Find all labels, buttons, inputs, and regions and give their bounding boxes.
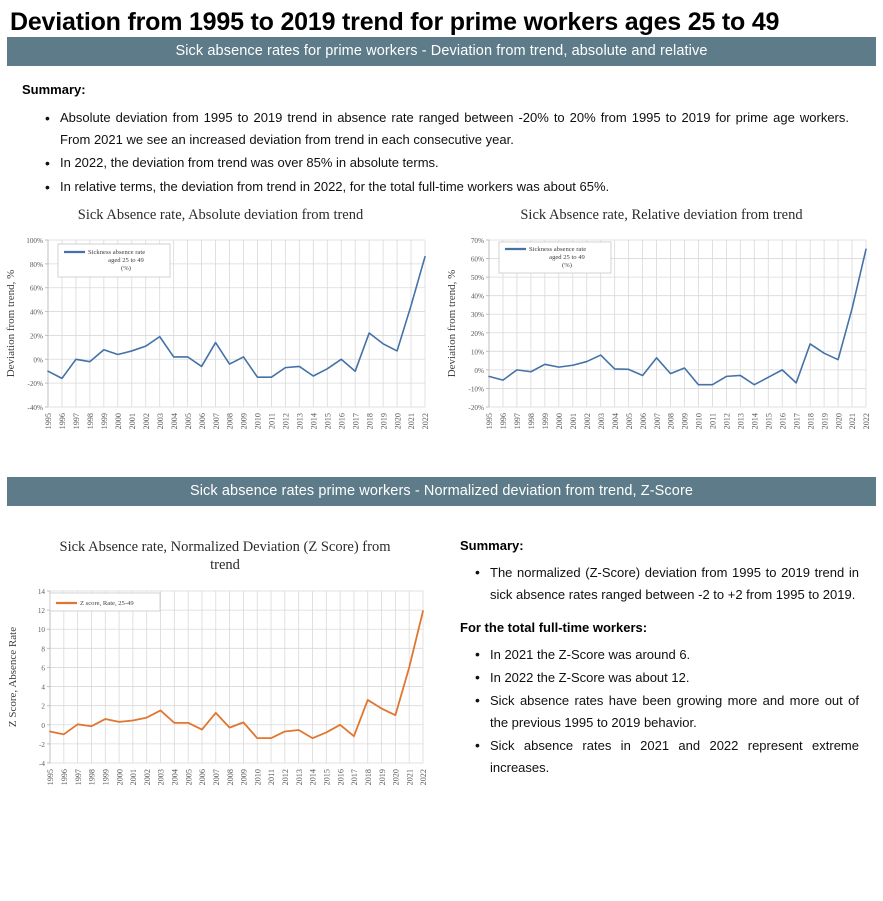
svg-text:2009: 2009 [240,413,249,429]
svg-text:2010: 2010 [253,769,262,785]
svg-text:2008: 2008 [226,769,235,785]
svg-text:30%: 30% [471,312,484,320]
svg-text:2007: 2007 [212,769,221,785]
svg-text:2007: 2007 [212,413,221,429]
svg-text:1999: 1999 [101,769,110,785]
svg-text:40%: 40% [30,309,43,317]
svg-text:Z Score, Absence Rate: Z Score, Absence Rate [7,626,19,726]
svg-text:2000: 2000 [115,769,124,785]
list-item: The normalized (Z-Score) deviation from … [490,562,859,606]
svg-text:2006: 2006 [198,413,207,429]
svg-text:40%: 40% [471,293,484,301]
svg-text:4: 4 [41,683,45,691]
list-item: Sick absence rates in 2021 and 2022 repr… [490,735,859,779]
chart-zscore: 14121086420-2-41995199619971998199920002… [0,581,450,821]
bottom-summary-list-first: The normalized (Z-Score) deviation from … [460,562,859,606]
svg-text:0: 0 [41,721,45,729]
svg-text:2019: 2019 [378,769,387,785]
svg-text:1997: 1997 [72,413,81,429]
page-title: Deviation from 1995 to 2019 trend for pr… [0,0,883,37]
chart-absolute: 100%80%60%40%20%0%-20%-40%19951996199719… [0,230,441,465]
chart-zscore-svg: 14121086420-2-41995199619971998199920002… [0,581,441,821]
svg-text:2018: 2018 [806,413,815,429]
top-summary-block: Summary: Absolute deviation from 1995 to… [0,66,883,198]
svg-text:2015: 2015 [322,769,331,785]
svg-text:20%: 20% [471,330,484,338]
svg-text:1998: 1998 [86,413,95,429]
list-item: Sick absence rates have been growing mor… [490,690,859,734]
svg-text:2021: 2021 [848,413,857,429]
chart-title-zscore: Sick Absence rate, Normalized Deviation … [0,538,450,574]
chart-relative: 70%60%50%40%30%20%10%0%-10%-20%199519961… [441,230,882,465]
svg-text:1996: 1996 [499,413,508,429]
svg-text:2001: 2001 [129,769,138,785]
svg-text:2014: 2014 [750,413,759,429]
svg-text:-20%: -20% [27,380,43,388]
svg-text:50%: 50% [471,274,484,282]
svg-text:2020: 2020 [393,413,402,429]
svg-text:2021: 2021 [407,413,416,429]
svg-text:(%): (%) [121,265,131,272]
bottom-summary-block: Summary: The normalized (Z-Score) deviat… [450,520,883,820]
svg-text:2000: 2000 [555,413,564,429]
svg-text:-40%: -40% [27,404,43,412]
svg-text:80%: 80% [30,261,43,269]
svg-text:2007: 2007 [653,413,662,429]
svg-text:2002: 2002 [143,769,152,785]
list-item: In 2021 the Z-Score was around 6. [490,644,859,666]
svg-text:2016: 2016 [778,413,787,429]
svg-text:0%: 0% [474,367,484,375]
svg-text:(%): (%) [562,262,572,269]
svg-text:2012: 2012 [282,413,291,429]
svg-text:2013: 2013 [296,413,305,429]
list-item: In relative terms, the deviation from tr… [60,176,863,198]
svg-text:aged 25 to 49: aged 25 to 49 [549,254,585,261]
svg-text:-20%: -20% [468,404,484,412]
top-summary-list: Absolute deviation from 1995 to 2019 tre… [22,107,863,198]
section-header-absolute-relative: Sick absence rates for prime workers - D… [7,37,876,66]
svg-text:70%: 70% [471,237,484,245]
svg-text:2019: 2019 [820,413,829,429]
svg-text:2: 2 [41,702,45,710]
svg-text:1999: 1999 [541,413,550,429]
chart-title-absolute: Sick Absence rate, Absolute deviation fr… [0,206,441,224]
chart-cell-zscore: Sick Absence rate, Normalized Deviation … [0,520,450,820]
svg-text:2004: 2004 [171,769,180,785]
svg-text:6: 6 [41,664,45,672]
svg-text:2005: 2005 [625,413,634,429]
chart-row-top: Sick Absence rate, Absolute deviation fr… [0,206,883,465]
svg-text:2003: 2003 [157,769,166,785]
svg-text:2008: 2008 [667,413,676,429]
svg-text:-4: -4 [39,760,45,768]
svg-text:1998: 1998 [88,769,97,785]
svg-text:2018: 2018 [364,769,373,785]
svg-text:-2: -2 [39,740,45,748]
svg-text:1995: 1995 [485,413,494,429]
chart-absolute-svg: 100%80%60%40%20%0%-20%-40%19951996199719… [0,230,441,465]
svg-text:1996: 1996 [58,413,67,429]
chart-title-relative: Sick Absence rate, Relative deviation fr… [441,206,882,224]
svg-text:2009: 2009 [240,769,249,785]
svg-text:2004: 2004 [170,413,179,429]
svg-text:2001: 2001 [128,413,137,429]
svg-text:14: 14 [38,588,46,596]
svg-text:8: 8 [41,645,45,653]
chart-cell-absolute: Sick Absence rate, Absolute deviation fr… [0,206,441,465]
svg-text:1995: 1995 [46,769,55,785]
svg-text:2019: 2019 [379,413,388,429]
svg-text:1997: 1997 [513,413,522,429]
svg-text:1998: 1998 [527,413,536,429]
summary-heading-fulltime: For the total full-time workers: [460,620,859,635]
svg-text:2022: 2022 [862,413,871,429]
list-item: Absolute deviation from 1995 to 2019 tre… [60,107,863,152]
svg-text:100%: 100% [26,237,43,245]
svg-text:2005: 2005 [184,769,193,785]
svg-text:Sickness absence rate: Sickness absence rate [529,246,586,253]
svg-text:2003: 2003 [156,413,165,429]
svg-text:2011: 2011 [268,413,277,429]
svg-text:60%: 60% [471,256,484,264]
svg-text:10%: 10% [471,349,484,357]
svg-text:0%: 0% [33,357,43,365]
bottom-row: Sick Absence rate, Normalized Deviation … [0,520,883,820]
svg-text:Z score, Rate, 25-49: Z score, Rate, 25-49 [80,600,134,607]
svg-text:1996: 1996 [60,769,69,785]
svg-text:2013: 2013 [737,413,746,429]
svg-text:2013: 2013 [295,769,304,785]
svg-text:2012: 2012 [281,769,290,785]
svg-text:2006: 2006 [639,413,648,429]
svg-text:2010: 2010 [695,413,704,429]
svg-text:Deviation from trend, %: Deviation from trend, % [446,270,458,378]
svg-text:2009: 2009 [681,413,690,429]
svg-text:2016: 2016 [337,413,346,429]
svg-text:2003: 2003 [597,413,606,429]
svg-text:12: 12 [38,607,46,615]
svg-text:aged 25 to 49: aged 25 to 49 [108,257,144,264]
chart-cell-relative: Sick Absence rate, Relative deviation fr… [441,206,882,465]
svg-text:2018: 2018 [365,413,374,429]
svg-text:2004: 2004 [611,413,620,429]
svg-text:2014: 2014 [309,769,318,785]
section-header-zscore: Sick absence rates prime workers - Norma… [7,477,876,506]
svg-text:2022: 2022 [419,769,428,785]
svg-text:1999: 1999 [100,413,109,429]
svg-text:2017: 2017 [351,413,360,429]
svg-text:2022: 2022 [421,413,430,429]
svg-text:2001: 2001 [569,413,578,429]
svg-text:1995: 1995 [44,413,53,429]
svg-text:2014: 2014 [309,413,318,429]
svg-text:2016: 2016 [336,769,345,785]
svg-text:20%: 20% [30,333,43,341]
svg-text:2015: 2015 [764,413,773,429]
svg-text:2015: 2015 [323,413,332,429]
svg-text:10: 10 [38,626,46,634]
svg-text:2006: 2006 [198,769,207,785]
svg-text:2005: 2005 [184,413,193,429]
svg-text:Sickness absence rate: Sickness absence rate [88,249,145,256]
list-item: In 2022 the Z-Score was about 12. [490,667,859,689]
svg-text:2002: 2002 [142,413,151,429]
svg-text:2002: 2002 [583,413,592,429]
svg-text:2017: 2017 [792,413,801,429]
svg-text:2021: 2021 [405,769,414,785]
list-item: In 2022, the deviation from trend was ov… [60,152,863,174]
svg-text:2017: 2017 [350,769,359,785]
svg-text:60%: 60% [30,285,43,293]
bottom-summary-list-second: In 2021 the Z-Score was around 6. In 202… [460,644,859,780]
svg-text:2010: 2010 [254,413,263,429]
svg-text:Deviation from trend, %: Deviation from trend, % [5,270,17,378]
svg-text:2011: 2011 [267,769,276,785]
svg-text:2020: 2020 [834,413,843,429]
summary-heading: Summary: [22,82,863,97]
svg-text:1997: 1997 [74,769,83,785]
summary-heading-zscore: Summary: [460,538,859,553]
svg-text:2011: 2011 [709,413,718,429]
svg-text:2020: 2020 [392,769,401,785]
svg-text:2000: 2000 [114,413,123,429]
svg-text:-10%: -10% [468,386,484,394]
chart-relative-svg: 70%60%50%40%30%20%10%0%-10%-20%199519961… [441,230,882,465]
svg-text:2012: 2012 [723,413,732,429]
svg-text:2008: 2008 [226,413,235,429]
